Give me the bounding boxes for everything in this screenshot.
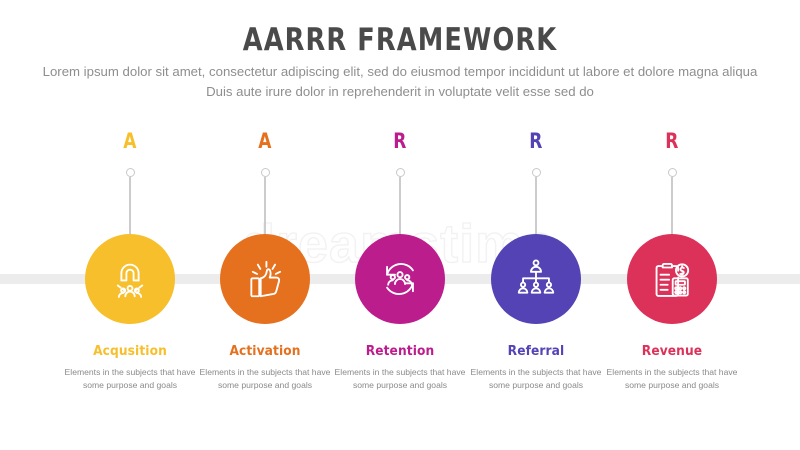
- timeline-node-dot: [668, 168, 677, 177]
- clipboard-calculator-dollar-icon: [649, 256, 695, 302]
- stage-title: Acqusition: [60, 343, 200, 359]
- stage-icon-circle[interactable]: [220, 234, 310, 324]
- stage-description: Elements in the subjects that have some …: [62, 366, 198, 393]
- stage-description: Elements in the subjects that have some …: [604, 366, 740, 393]
- timeline-node-dot: [126, 168, 135, 177]
- timeline-connector-line: [399, 177, 400, 235]
- stage-icon-circle[interactable]: [627, 234, 717, 324]
- stage-description: Elements in the subjects that have some …: [197, 366, 333, 393]
- stage-column: R Retention Elements in the subjects tha…: [330, 0, 470, 450]
- stage-letter: A: [67, 129, 193, 153]
- stage-column: A Activation Elements in the subjects th…: [195, 0, 335, 450]
- stage-letter: R: [473, 129, 599, 153]
- stage-column: R Revenue Elements in the subjects that …: [602, 0, 742, 450]
- timeline-connector-line: [535, 177, 536, 235]
- stage-icon-circle[interactable]: [355, 234, 445, 324]
- retention-cycle-people-icon: [377, 256, 423, 302]
- timeline-node-dot: [532, 168, 541, 177]
- stage-title: Retention: [330, 343, 470, 359]
- stage-description: Elements in the subjects that have some …: [332, 366, 468, 393]
- stage-title: Referral: [466, 343, 606, 359]
- magnet-people-icon: [107, 256, 153, 302]
- stage-column: A Acqusition Elements in the subjects th…: [60, 0, 200, 450]
- stage-letter: R: [337, 129, 463, 153]
- timeline-connector-line: [129, 177, 130, 235]
- thumbs-up-icon: [242, 256, 288, 302]
- stage-description: Elements in the subjects that have some …: [468, 366, 604, 393]
- stage-letter: R: [609, 129, 735, 153]
- timeline-node-dot: [261, 168, 270, 177]
- stage-icon-circle[interactable]: [491, 234, 581, 324]
- stage-title: Activation: [195, 343, 335, 359]
- infographic-canvas: dreamstime ® AARRR FRAMEWORK Lorem ipsum…: [0, 0, 800, 450]
- referral-network-icon: [513, 256, 559, 302]
- stage-title: Revenue: [602, 343, 742, 359]
- timeline-connector-line: [671, 177, 672, 235]
- timeline-connector-line: [264, 177, 265, 235]
- stage-letter: A: [202, 129, 328, 153]
- timeline-node-dot: [396, 168, 405, 177]
- stage-column: R Referral Elements in the subjects that…: [466, 0, 606, 450]
- stage-icon-circle[interactable]: [85, 234, 175, 324]
